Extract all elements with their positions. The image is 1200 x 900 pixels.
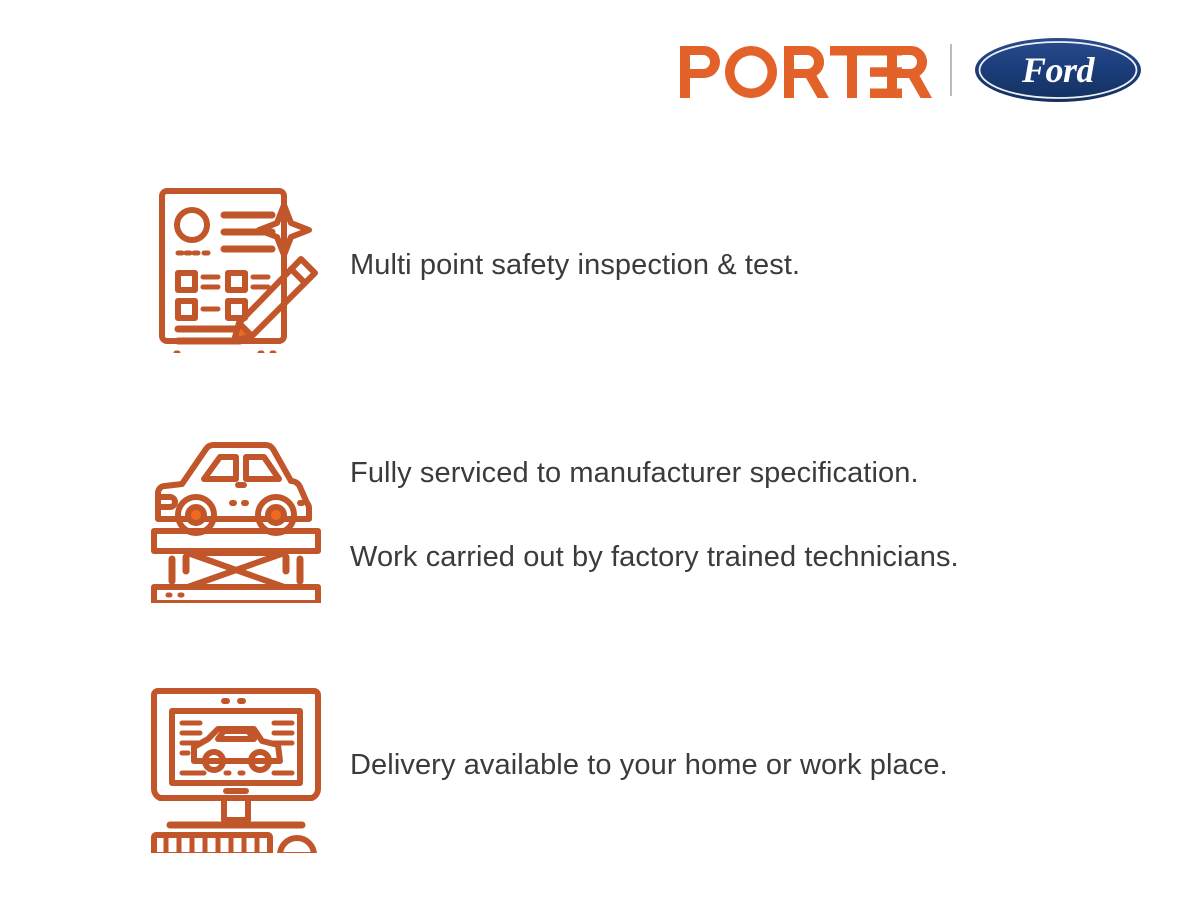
feature-list: Multi point safety inspection & test. [140, 140, 1140, 890]
brand-divider [950, 44, 952, 96]
feature-text-line: Work carried out by factory trained tech… [350, 536, 1140, 578]
feature-text: Delivery available to your home or work … [340, 702, 1140, 828]
feature-text: Multi point safety inspection & test. [340, 202, 1140, 328]
feature-row: Multi point safety inspection & test. [140, 140, 1140, 390]
feature-text-line: Fully serviced to manufacturer specifica… [350, 452, 1140, 494]
feature-text-line: Delivery available to your home or work … [350, 744, 1140, 786]
svg-text:Ford: Ford [1021, 50, 1096, 90]
feature-row: Delivery available to your home or work … [140, 640, 1140, 890]
clipboard-inspection-icon [140, 170, 340, 360]
feature-row: Fully serviced to manufacturer specifica… [140, 390, 1140, 640]
car-on-lift-icon [140, 420, 340, 610]
promo-slide: Ford [0, 0, 1200, 900]
brand-bar: Ford [680, 30, 1140, 110]
porter-logo [680, 42, 932, 98]
feature-text: Fully serviced to manufacturer specifica… [340, 410, 1140, 620]
desktop-delivery-icon [140, 670, 340, 860]
feature-text-line: Multi point safety inspection & test. [350, 244, 1140, 286]
ford-logo: Ford [974, 37, 1142, 103]
